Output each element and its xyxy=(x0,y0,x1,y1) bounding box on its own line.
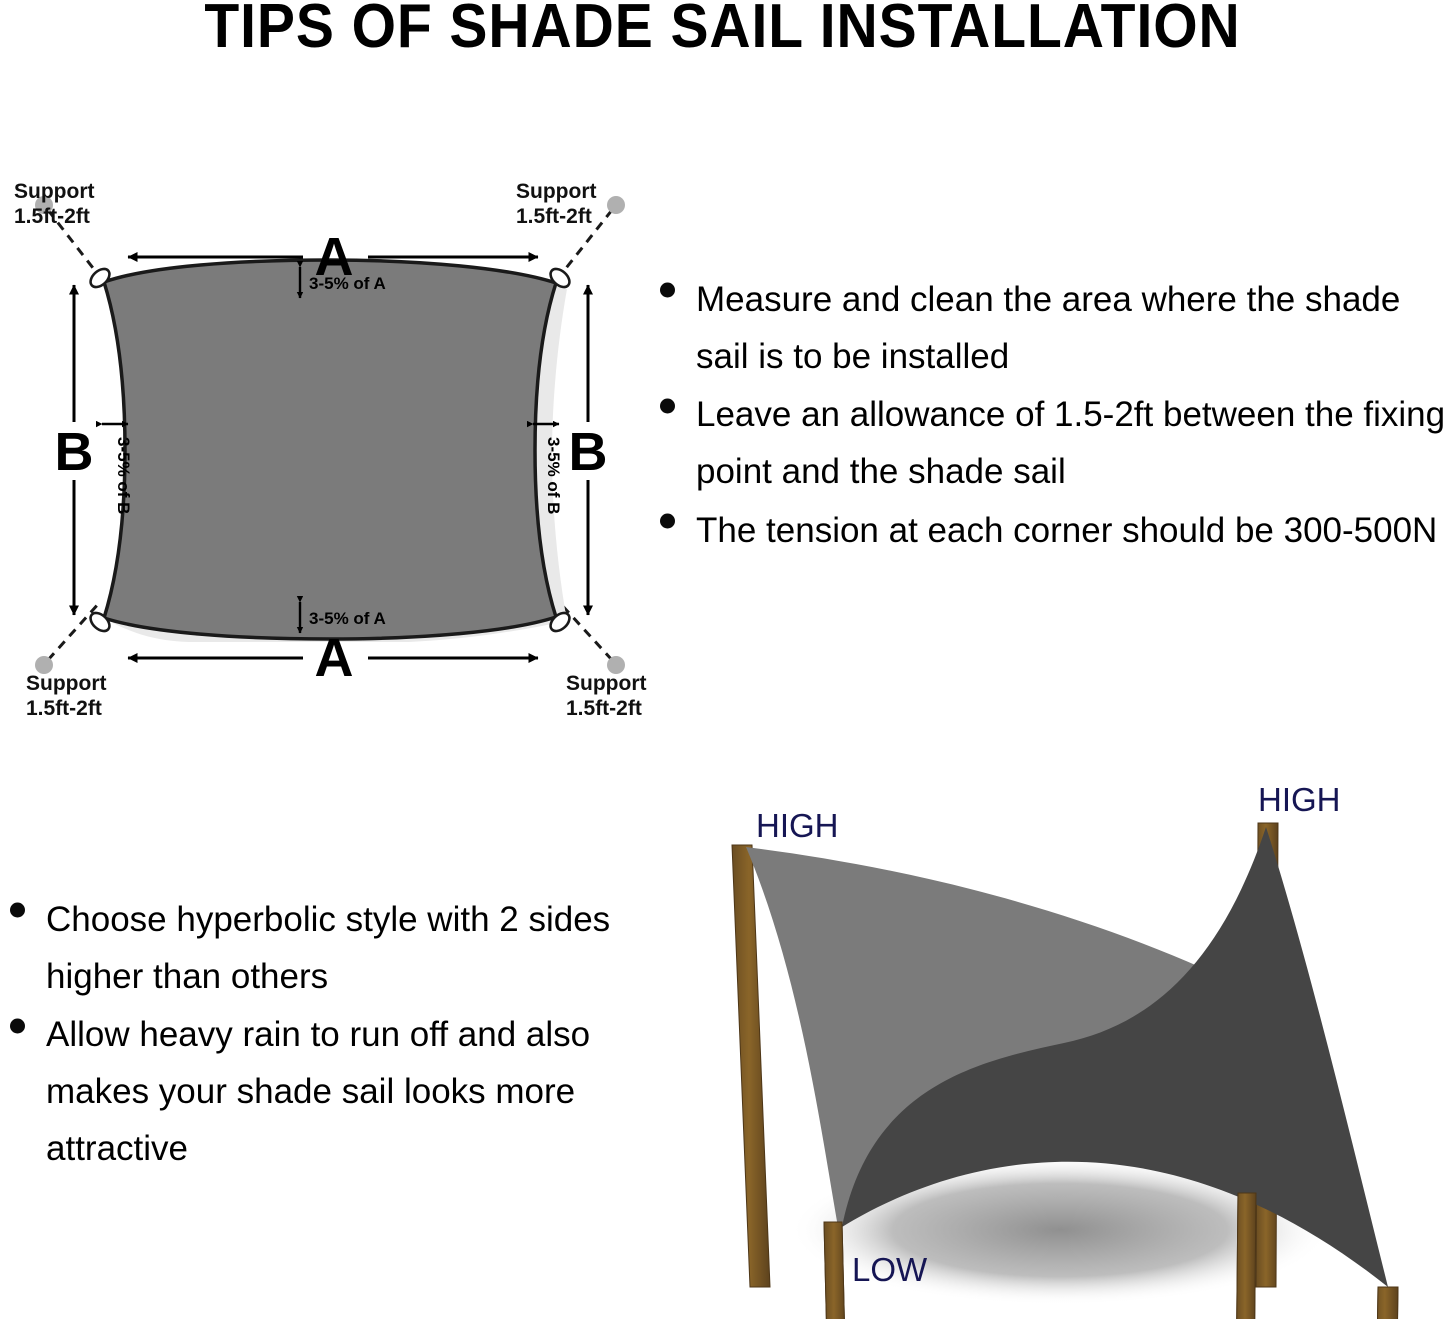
list-item: Measure and clean the area where the sha… xyxy=(650,272,1445,385)
bullet-dot-icon xyxy=(10,1018,25,1033)
list-item-text: The tension at each corner should be 300… xyxy=(696,503,1445,560)
support-dot-top-right xyxy=(607,196,625,214)
list-item: Allow heavy rain to run off and also mak… xyxy=(0,1007,625,1177)
post-low-right-front xyxy=(1374,1287,1398,1319)
left-tips-list: Choose hyperbolic style with 2 sides hig… xyxy=(0,892,625,1179)
support-label-top-left-line1: Support xyxy=(14,180,94,203)
dimension-b-left: B xyxy=(55,285,94,615)
support-label-top-left-line2: 1.5ft-2ft xyxy=(14,205,90,228)
infographic-page: TIPS OF SHADE SAIL INSTALLATION xyxy=(0,0,1445,1319)
curve-depth-label-top: 3-5% of A xyxy=(309,274,386,293)
support-label-top-right-line2: 1.5ft-2ft xyxy=(516,205,592,228)
dimension-b-right: B xyxy=(569,285,608,615)
post-low-left-front xyxy=(824,1222,846,1319)
right-tips-list: Measure and clean the area where the sha… xyxy=(650,272,1445,561)
list-item: Choose hyperbolic style with 2 sides hig… xyxy=(0,892,625,1005)
support-label-top-right: Support 1.5ft-2ft xyxy=(516,180,596,228)
post-rear-right-front xyxy=(1236,1193,1256,1319)
support-label-bottom-left-line1: Support xyxy=(26,672,106,695)
dimension-label-a-bottom: A xyxy=(315,628,354,688)
support-leader-bottom-right xyxy=(559,602,612,660)
rectangular-sail-svg: A 3-5% of A A 3-5% of A B xyxy=(0,150,660,740)
post-label-low-left: LOW xyxy=(852,1251,928,1288)
bottom-diagram-container: HIGH HIGH LOW LOW xyxy=(660,775,1445,1319)
list-item-text: Choose hyperbolic style with 2 sides hig… xyxy=(46,892,625,1005)
bullet-dot-icon xyxy=(660,398,675,413)
post-label-high-left: HIGH xyxy=(756,807,839,844)
support-label-bottom-right-line2: 1.5ft-2ft xyxy=(566,697,642,720)
curve-depth-label-left: 3-5% of B xyxy=(114,437,133,514)
list-item-text: Measure and clean the area where the sha… xyxy=(696,272,1445,385)
curve-depth-label-right: 3-5% of B xyxy=(544,437,563,514)
curve-depth-left: 3-5% of B xyxy=(102,424,133,514)
bullet-dot-icon xyxy=(10,903,25,918)
support-label-bottom-right: Support 1.5ft-2ft xyxy=(566,672,646,720)
list-item-text: Leave an allowance of 1.5-2ft between th… xyxy=(696,387,1445,500)
shade-sail-shape xyxy=(104,260,556,639)
support-label-bottom-left-line2: 1.5ft-2ft xyxy=(26,697,102,720)
curve-depth-label-bottom: 3-5% of A xyxy=(309,609,386,628)
dimension-label-b-left: B xyxy=(55,422,94,482)
bullet-dot-icon xyxy=(660,513,675,528)
post-label-high-right: HIGH xyxy=(1258,781,1341,818)
dimension-label-b-right: B xyxy=(569,422,608,482)
support-label-top-right-line1: Support xyxy=(516,180,596,203)
hyperbolic-sail-svg: HIGH HIGH LOW LOW xyxy=(660,775,1445,1319)
list-item: The tension at each corner should be 300… xyxy=(650,503,1445,560)
page-title: TIPS OF SHADE SAIL INSTALLATION xyxy=(58,0,1387,59)
post-high-left xyxy=(732,845,770,1287)
bullet-dot-icon xyxy=(660,283,675,298)
list-item-text: Allow heavy rain to run off and also mak… xyxy=(46,1007,625,1177)
top-diagram-container: A 3-5% of A A 3-5% of A B xyxy=(0,150,660,740)
list-item: Leave an allowance of 1.5-2ft between th… xyxy=(650,387,1445,500)
support-label-bottom-right-line1: Support xyxy=(566,672,646,695)
support-label-top-left: Support 1.5ft-2ft xyxy=(14,180,94,228)
support-label-bottom-left: Support 1.5ft-2ft xyxy=(26,672,106,720)
